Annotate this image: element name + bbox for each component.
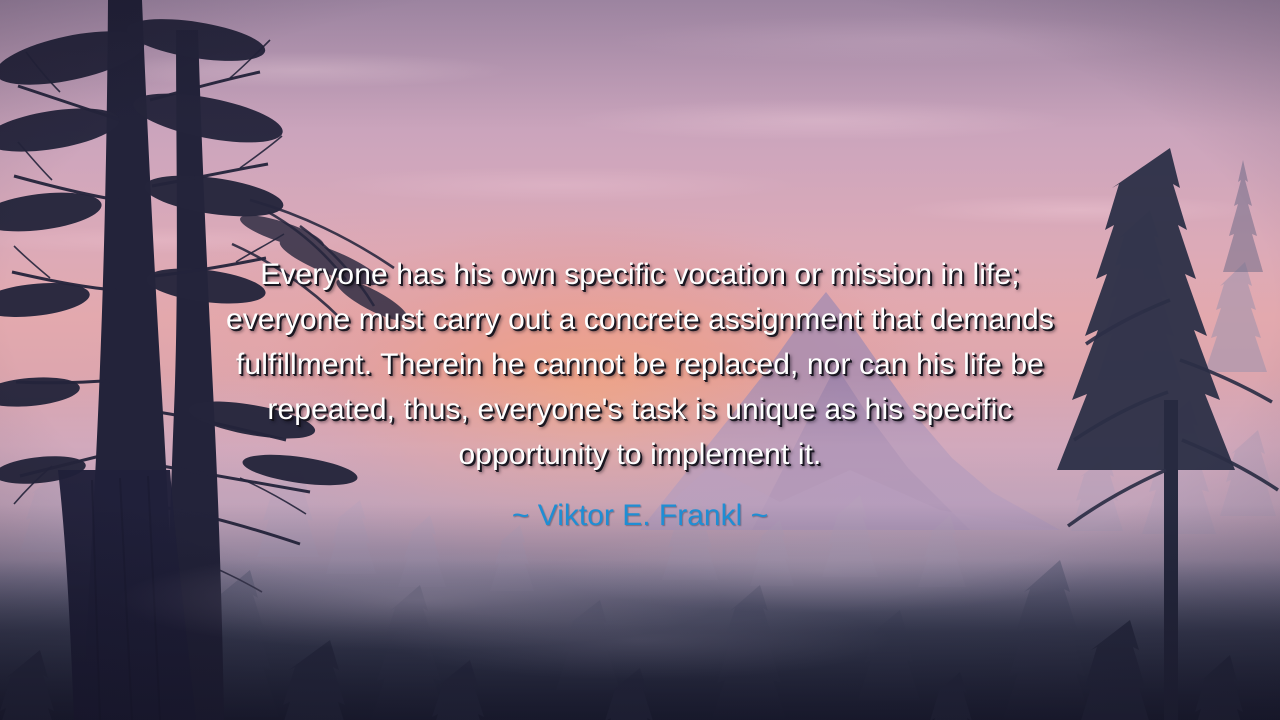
quote-text: Everyone has his own specific vocation o…	[80, 252, 1200, 477]
quote-block: Everyone has his own specific vocation o…	[0, 252, 1280, 534]
quote-attribution: ~ Viktor E. Frankl ~	[80, 498, 1200, 534]
quote-wallpaper: Everyone has his own specific vocation o…	[0, 0, 1280, 720]
